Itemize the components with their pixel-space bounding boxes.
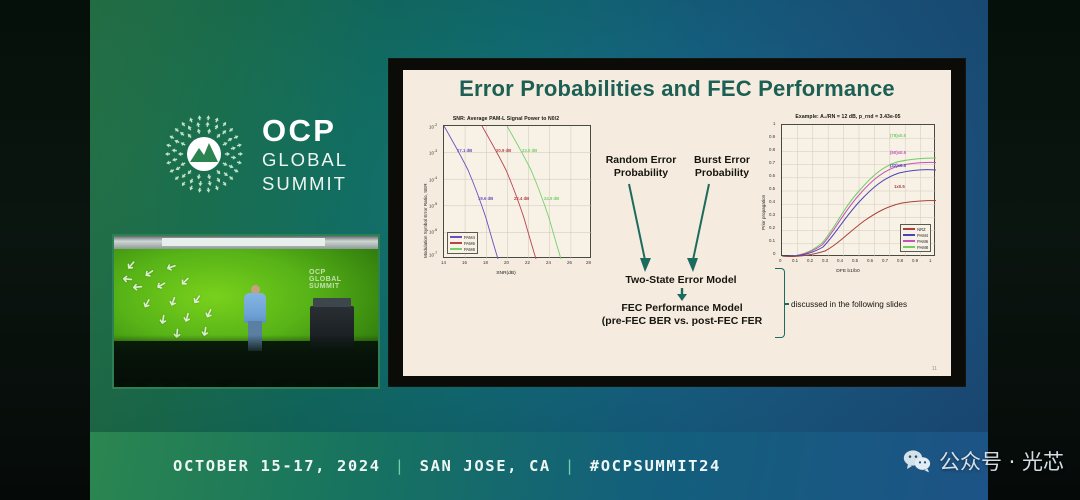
label-fec-performance-model: FEC Performance Model (pre-FEC BER vs. p… — [579, 302, 785, 329]
legend-label-pam6: PAM6 — [464, 241, 475, 246]
banner-dates: OCTOBER 15-17, 2024 — [173, 457, 381, 475]
arrow-icon: ➜ — [139, 296, 156, 312]
xtick-20: 20 — [504, 260, 509, 265]
chart-right-plot-area: (78)x0.5 (50)x0.5 (32)x0.5 1x0.5 NRZ PAM… — [781, 124, 935, 256]
legend-label-pam6: PAM6 — [917, 239, 928, 244]
right-xtick-03: 0.3 — [822, 258, 828, 263]
label-discussed-in-following-slides: discussed in the following slides — [791, 300, 941, 309]
photo-audience — [114, 335, 378, 387]
right-xtick-07: 0.7 — [882, 258, 888, 263]
legend-item-pam8: PAM8 — [903, 245, 928, 250]
annotation-1x05: 1x0.5 — [894, 184, 905, 189]
right-ytick-09: 0.9 — [769, 134, 775, 139]
chart-left-title: SNR: Average PAM-L Signal Power to N0/2 — [417, 116, 595, 122]
legend-swatch-pam8 — [450, 248, 462, 249]
right-xtick-05: 0.5 — [852, 258, 858, 263]
right-ytick-07: 0.7 — [769, 160, 775, 165]
right-xtick-1: 1 — [929, 258, 931, 263]
right-xtick-02: 0.2 — [807, 258, 813, 263]
ytick-1: 10-3 — [429, 149, 437, 155]
chart-right-legend: NRZ PAM4 PAM6 PAM8 — [900, 224, 931, 252]
xtick-26: 26 — [567, 260, 572, 265]
annotation-32x05: (32)x0.5 — [890, 163, 906, 168]
arrow-icon: ➜ — [165, 294, 181, 309]
ytick-4: 10-6 — [429, 228, 437, 234]
banner-hashtag: #OCPSUMMIT24 — [590, 457, 721, 475]
legend-label-nrz: NRZ — [917, 227, 925, 232]
arrow-icon: ➜ — [131, 281, 143, 295]
arrow-icon: ➜ — [121, 273, 133, 287]
legend-item-pam6: PAM6 — [450, 241, 475, 246]
arrow-icon: ➜ — [177, 273, 194, 290]
ocp-logo-summit: SUMMIT — [262, 175, 348, 194]
arrow-icon: ➜ — [153, 277, 169, 294]
legend-label-pam4: PAM4 — [464, 235, 475, 240]
legend-item-pam6: PAM6 — [903, 239, 928, 244]
right-xtick-09: 0.9 — [912, 258, 918, 263]
photo-ceiling — [114, 236, 378, 249]
stage-photo: ➜ ➜ ➜ ➜ ➜ ➜ ➜ ➜ ➜ ➜ ➜ ➜ ➜ ➜ ➜ OCP GLOBAL… — [112, 234, 380, 389]
speaker-body — [244, 293, 266, 323]
chart-left-ylabel: Modulation Symbol Error Ratio, SER — [423, 183, 428, 258]
arrow-icon: ➜ — [201, 306, 217, 321]
label-random-error-probability: Random Error Probability — [599, 154, 683, 181]
right-ytick-06: 0.6 — [769, 173, 775, 178]
label-two-state-error-model: Two-State Error Model — [591, 274, 771, 287]
chart-ser-vs-snr: SNR: Average PAM-L Signal Power to N0/2 … — [417, 116, 595, 274]
legend-swatch-pam4 — [903, 234, 915, 235]
mountain-in-circle-with-arrow-burst-icon — [160, 110, 248, 198]
slide-page-number: 11 — [932, 366, 937, 372]
xtick-16: 16 — [462, 260, 467, 265]
banner-location: SAN JOSE, CA — [420, 457, 551, 475]
label-burst-error-probability: Burst Error Probability — [685, 154, 759, 181]
flow-arrow-down — [675, 288, 689, 302]
projected-slide-frame: Error Probabilities and FEC Performance … — [388, 58, 966, 387]
banner-separator-1: | — [395, 457, 406, 475]
chart-left-plot-area: 17.1 dB 20.9 dB 23.0 dB 19.6 dB 22.4 dB … — [443, 125, 591, 258]
arrow-icon: ➜ — [189, 291, 206, 307]
chart-right-title: Example: A₀/RN = 12 dB, p_rnd = 3.43e-05 — [757, 114, 939, 120]
right-ytick-0: 0 — [773, 251, 775, 256]
legend-item-pam8: PAM8 — [450, 247, 475, 252]
letterbox-bar-right — [988, 0, 1080, 500]
right-xtick-0: 0 — [779, 258, 781, 263]
xtick-24: 24 — [546, 260, 551, 265]
legend-item-pam4: PAM4 — [903, 233, 928, 238]
arrow-icon: ➜ — [164, 260, 179, 276]
xtick-22: 22 — [525, 260, 530, 265]
legend-label-pam4: PAM4 — [917, 233, 928, 238]
legend-item-nrz: NRZ — [903, 227, 928, 232]
wechat-icon — [903, 449, 931, 473]
arrow-icon: ➜ — [156, 313, 171, 326]
legend-swatch-pam8 — [903, 246, 915, 247]
legend-swatch-pam6 — [450, 242, 462, 243]
banner-separator-2: | — [565, 457, 576, 475]
ytick-5: 10-7 — [429, 251, 437, 257]
photo-stage-screen: ➜ ➜ ➜ ➜ ➜ ➜ ➜ ➜ ➜ ➜ ➜ ➜ ➜ ➜ ➜ OCP GLOBAL… — [114, 249, 378, 341]
ocp-logo-brand: OCP — [262, 115, 348, 146]
legend-swatch-nrz — [903, 228, 915, 229]
annotation-78x05: (78)x0.5 — [890, 133, 906, 138]
annotation-50x05: (50)x0.5 — [890, 150, 906, 155]
xtick-14: 14 — [441, 260, 446, 265]
right-xtick-04: 0.4 — [837, 258, 843, 263]
ytick-3: 10-5 — [429, 202, 437, 208]
right-ytick-1: 1 — [773, 121, 775, 126]
ocp-logo-global: GLOBAL — [262, 151, 348, 170]
right-xtick-01: 0.1 — [792, 258, 798, 263]
legend-swatch-pam4 — [450, 236, 462, 237]
ytick-2: 10-4 — [429, 176, 437, 182]
event-info-banner: OCTOBER 15-17, 2024 | SAN JOSE, CA | #OC… — [90, 432, 988, 500]
ocp-global-summit-logo: OCP GLOBAL SUMMIT — [160, 108, 365, 200]
ytick-0: 10-2 — [429, 123, 437, 129]
slide-canvas: Error Probabilities and FEC Performance … — [403, 70, 951, 376]
annotation-17-1-db: 17.1 dB — [457, 148, 472, 153]
legend-label-pam8: PAM8 — [464, 247, 475, 252]
flow-arrows — [587, 182, 773, 278]
right-xtick-08: 0.8 — [897, 258, 903, 263]
annotation-23-0-db: 23.0 dB — [522, 148, 537, 153]
chart-left-legend: PAM4 PAM6 PAM8 — [447, 232, 478, 254]
right-xtick-06: 0.6 — [867, 258, 873, 263]
legend-item-pam4: PAM4 — [450, 235, 475, 240]
annotation-19-6-db: 19.6 dB — [478, 196, 493, 201]
annotation-20-9-db: 20.9 dB — [496, 148, 511, 153]
wechat-watermark-text: 公众号 · 光芯 — [939, 446, 1064, 476]
wechat-watermark: 公众号 · 光芯 — [903, 446, 1064, 476]
curly-bracket — [775, 268, 785, 338]
slide-title: Error Probabilities and FEC Performance — [403, 76, 951, 102]
legend-swatch-pam6 — [903, 240, 915, 241]
annotation-22-4-db: 22.4 dB — [514, 196, 529, 201]
arrow-icon: ➜ — [180, 311, 195, 325]
chart-left-xlabel: SNR(dB) — [417, 271, 595, 276]
right-ytick-08: 0.8 — [769, 147, 775, 152]
annotation-24-9-db: 24.9 dB — [544, 196, 559, 201]
stage-screen-logo: OCP GLOBAL SUMMIT — [309, 262, 355, 296]
screenshot-root: OCP GLOBAL SUMMIT ➜ ➜ ➜ ➜ ➜ ➜ ➜ ➜ ➜ ➜ ➜ … — [0, 0, 1080, 500]
chart-prior-propagation: Example: A₀/RN = 12 dB, p_rnd = 3.43e-05… — [757, 114, 939, 272]
letterbox-bar-left — [0, 0, 90, 500]
legend-label-pam8: PAM8 — [917, 245, 928, 250]
xtick-18: 18 — [483, 260, 488, 265]
